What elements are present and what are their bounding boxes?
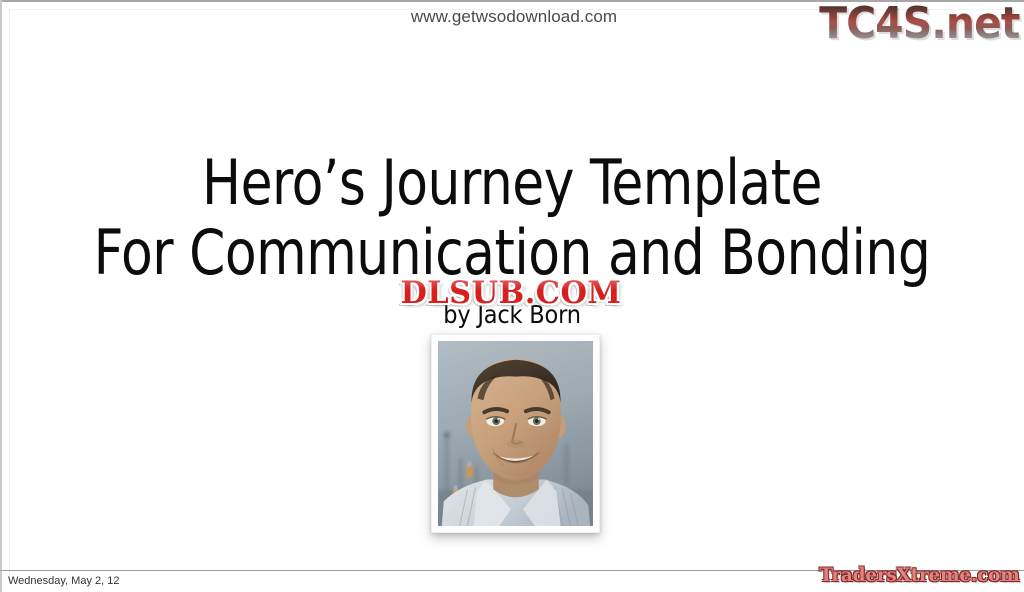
page-title: Hero’s Journey Template For Communicatio… bbox=[0, 148, 1024, 288]
slide-canvas: www.getwsodownload.com TC4S.net TC4S.net… bbox=[0, 0, 1024, 592]
portrait-photo-graphic bbox=[438, 341, 593, 526]
tc4s-logo-text: TC4S.net bbox=[820, 0, 1020, 50]
slide-border-left bbox=[0, 0, 2, 592]
portrait-photo bbox=[438, 341, 593, 526]
header-url-text: www.getwsodownload.com bbox=[411, 7, 617, 27]
portrait-photo-frame bbox=[431, 334, 600, 533]
tradersxtreme-watermark: TradersXtreme.com bbox=[820, 562, 1020, 588]
dlsub-watermark: DLSUB.COM bbox=[369, 275, 653, 311]
page-title-line-1: Hero’s Journey Template bbox=[36, 148, 988, 218]
footer-date: Wednesday, May 2, 12 bbox=[8, 575, 120, 587]
